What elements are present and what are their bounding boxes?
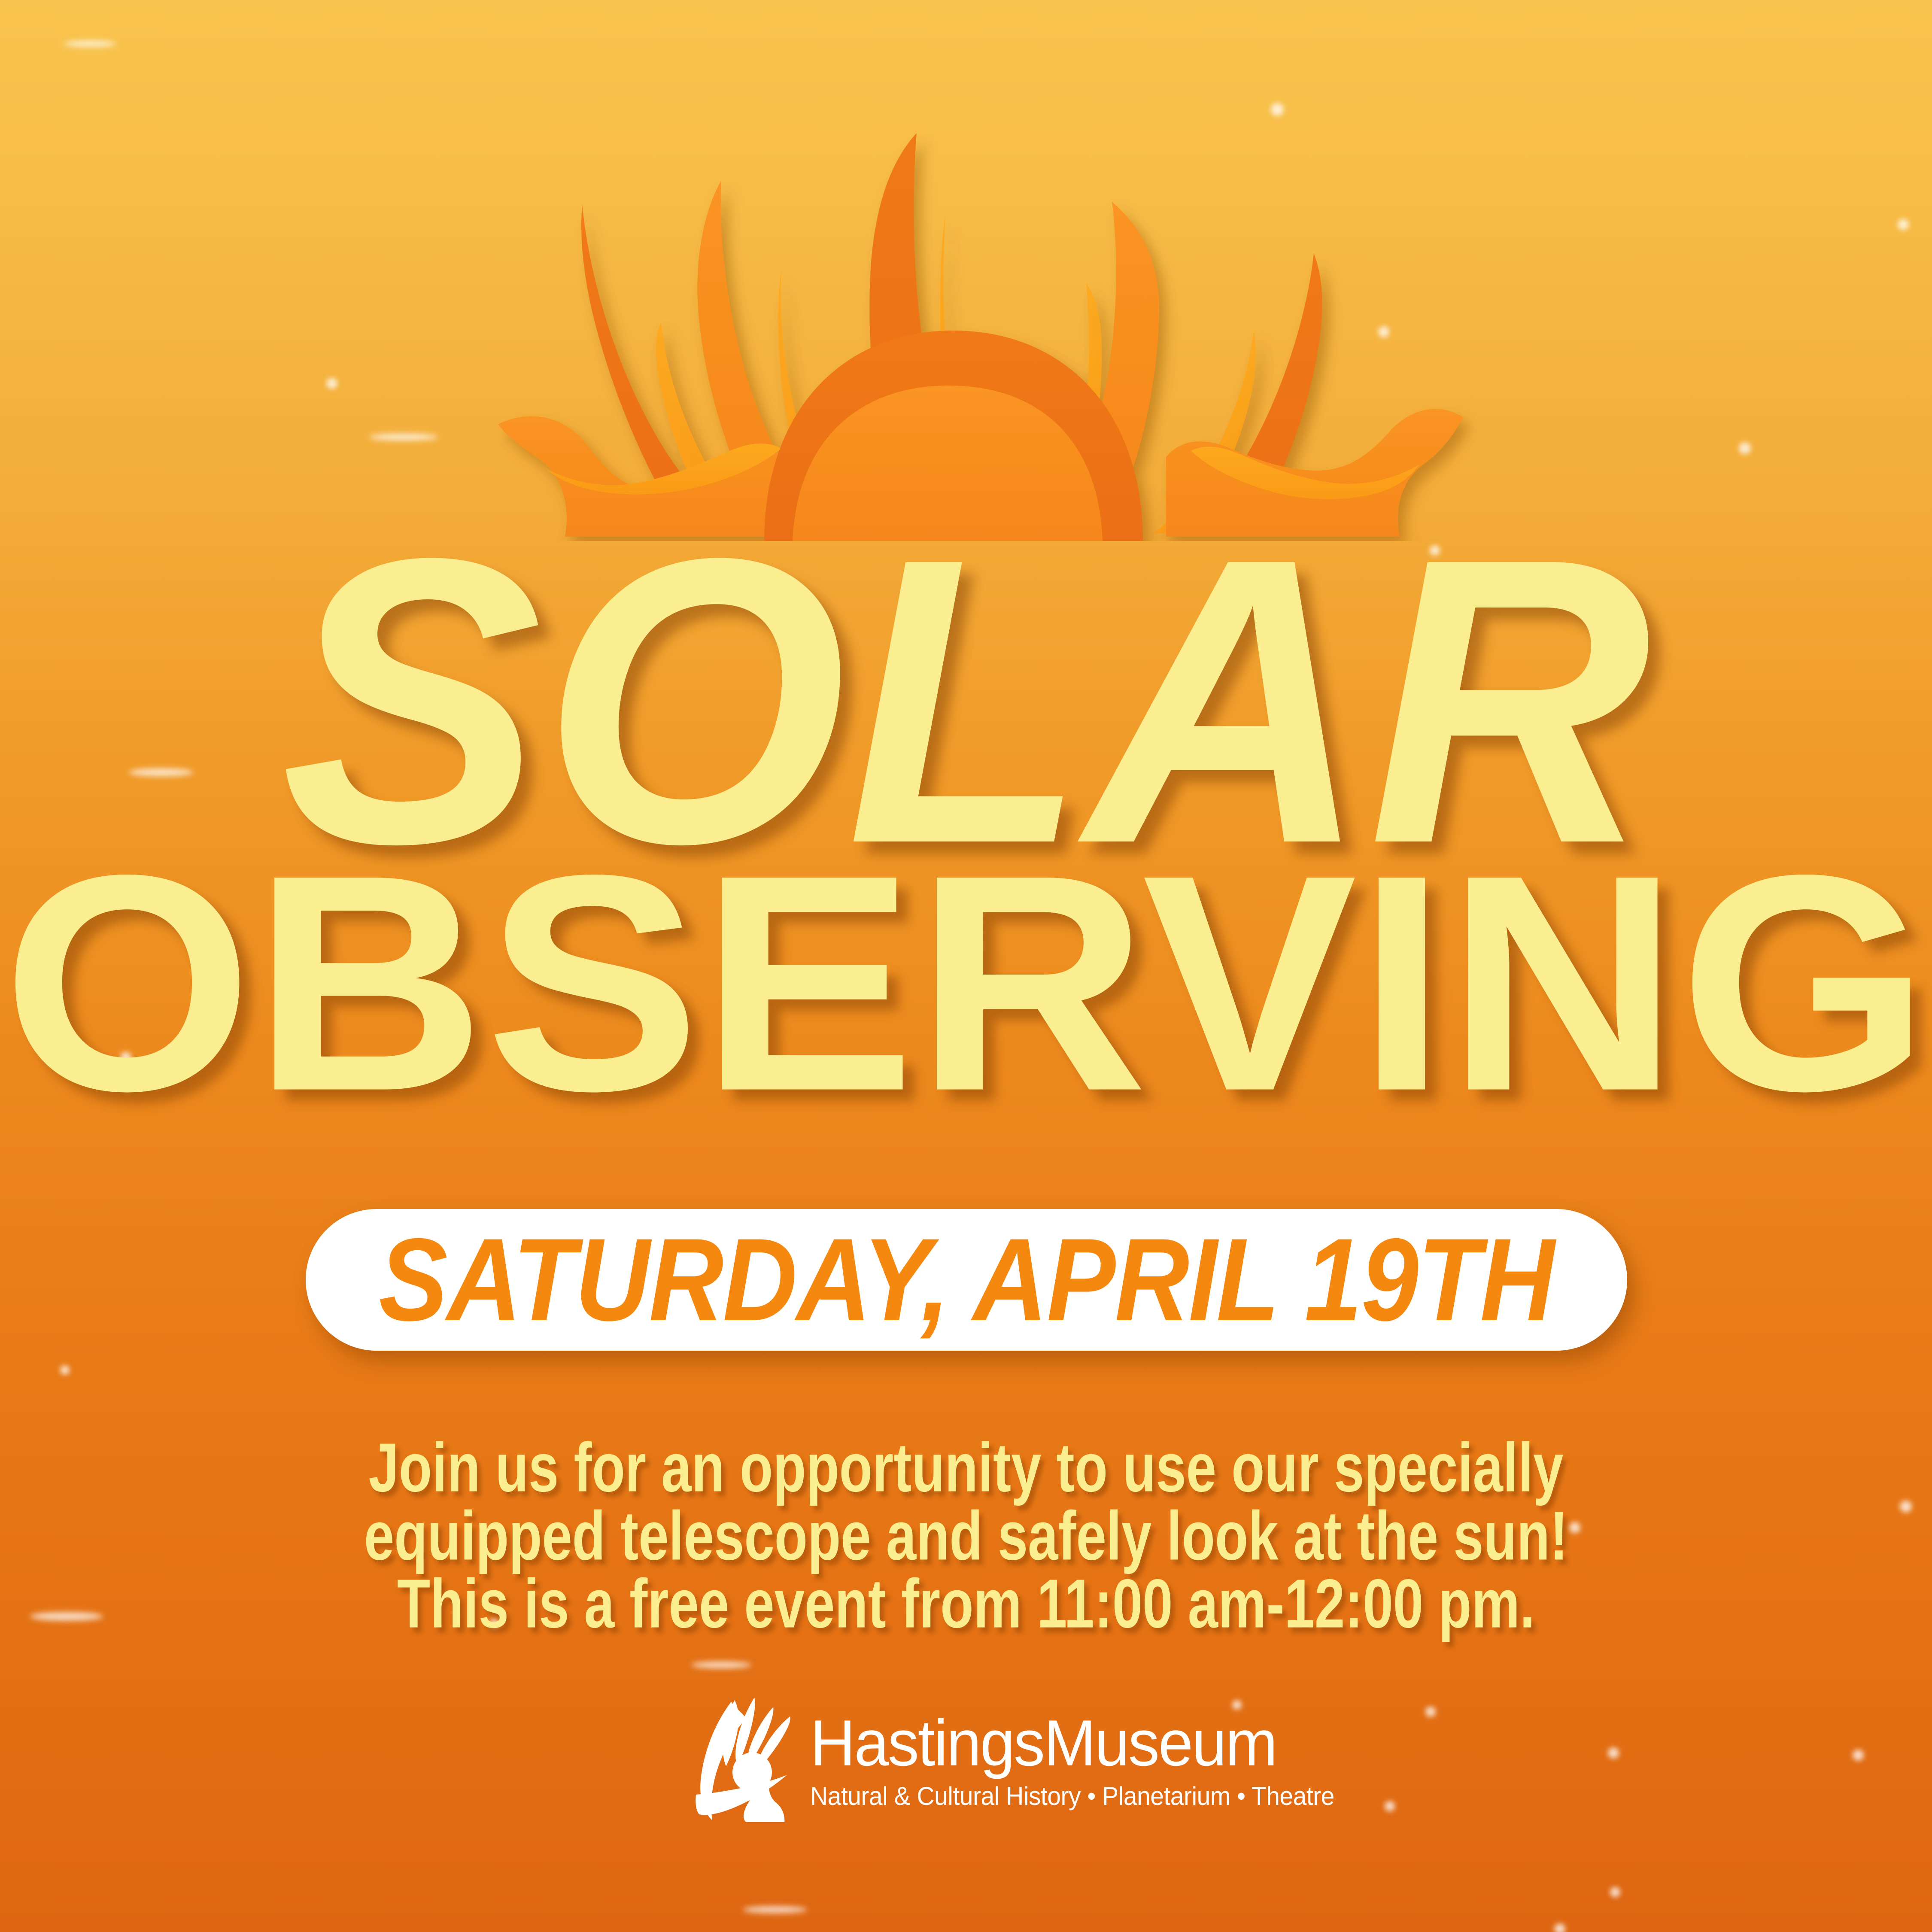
sparkle-dot — [1739, 442, 1751, 454]
sparkle-dot — [1425, 1707, 1436, 1717]
title-line-observing: OBSERVING — [0, 857, 1932, 1109]
sparkle-dot — [1385, 1801, 1395, 1811]
museum-logo-text: HastingsMuseum Natural & Cultural Histor… — [810, 1696, 1334, 1808]
description-block: Join us for an opportunity to use our sp… — [0, 1434, 1932, 1638]
sparkle-dot — [64, 41, 116, 47]
date-banner: SATURDAY, APRIL 19TH — [306, 1209, 1627, 1351]
museum-tagline: Natural & Cultural History • Planetarium… — [810, 1783, 1334, 1809]
sparkle-dot — [60, 1365, 70, 1375]
description-line-3: This is a free event from 11:00 am-12:00… — [0, 1560, 1932, 1649]
museum-logo: HastingsMuseum Natural & Cultural Histor… — [693, 1696, 1252, 1842]
sparkle-dot — [369, 434, 438, 440]
sparkle-dot — [1271, 103, 1284, 116]
sparkle-dot — [326, 378, 337, 389]
poster-canvas: SOLAR OBSERVING SATURDAY, APRIL 19TH Joi… — [0, 0, 1932, 1932]
sparkle-dot — [1898, 219, 1909, 230]
sparkle-dot — [1554, 1923, 1565, 1932]
page-title: SOLAR OBSERVING — [0, 535, 1932, 1054]
hastings-museum-hand-bird-icon — [693, 1698, 801, 1822]
sparkle-dot — [691, 1662, 751, 1668]
sparkle-dot — [743, 1906, 807, 1913]
sparkle-dot — [1853, 1750, 1864, 1761]
sparkle-dot — [1610, 1887, 1620, 1897]
museum-name: HastingsMuseum — [810, 1710, 1334, 1776]
sparkle-dot — [1608, 1747, 1619, 1759]
date-banner-text: SATURDAY, APRIL 19TH — [379, 1221, 1554, 1339]
